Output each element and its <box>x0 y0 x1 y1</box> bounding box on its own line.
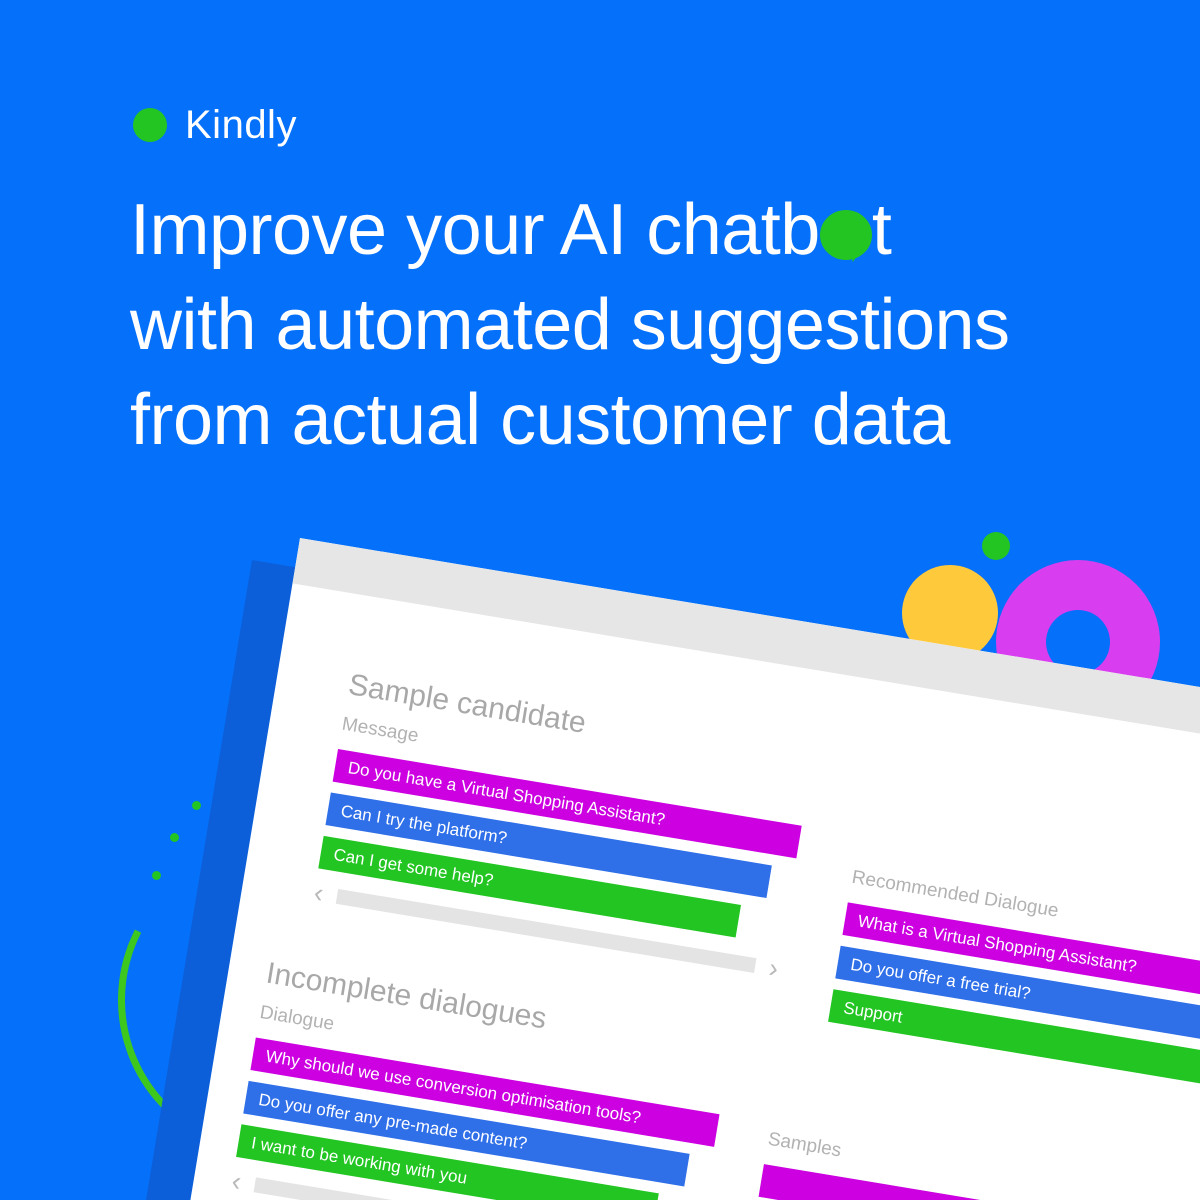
panel-samples: Samples <box>742 1129 1200 1200</box>
green-speech-bubble-icon <box>820 210 872 262</box>
panel-incomplete-dialogues: Incomplete dialogues Dialogue Why should… <box>230 957 733 1200</box>
chevron-left-icon[interactable]: ‹ <box>230 1168 243 1196</box>
brand-name: Kindly <box>185 105 297 145</box>
headline-line-2: with automated suggestions <box>130 278 1130 373</box>
panel-sample-candidate: Sample candidate Message Do you have a V… <box>312 668 815 983</box>
chevron-left-icon[interactable]: ‹ <box>312 879 325 907</box>
kindly-circle-icon <box>133 108 167 142</box>
panel-recommended-dialogue: Recommended Dialogue What is a Virtual S… <box>826 867 1200 1110</box>
headline-line-3: from actual customer data <box>130 373 1130 468</box>
bar-list: Why should we use conversion optimisatio… <box>236 1037 719 1200</box>
page-title: Improve your AI chatbt with automated su… <box>130 183 1130 468</box>
headline-line-1: Improve your AI chatbt <box>130 183 1130 278</box>
headline-line-1-after: t <box>872 190 892 270</box>
brand-logo[interactable]: Kindly <box>133 105 297 145</box>
bar-label: Can I try the platform? <box>339 801 508 848</box>
poster-canvas: Kindly Improve your AI chatbt with autom… <box>0 0 1200 1200</box>
chevron-right-icon[interactable]: › <box>767 955 780 983</box>
green-dot-decoration <box>982 532 1010 560</box>
headline-line-1-before: Improve your AI chatb <box>130 190 820 270</box>
bar-label: Support <box>842 998 904 1027</box>
bar-label: Can I get some help? <box>332 844 495 890</box>
